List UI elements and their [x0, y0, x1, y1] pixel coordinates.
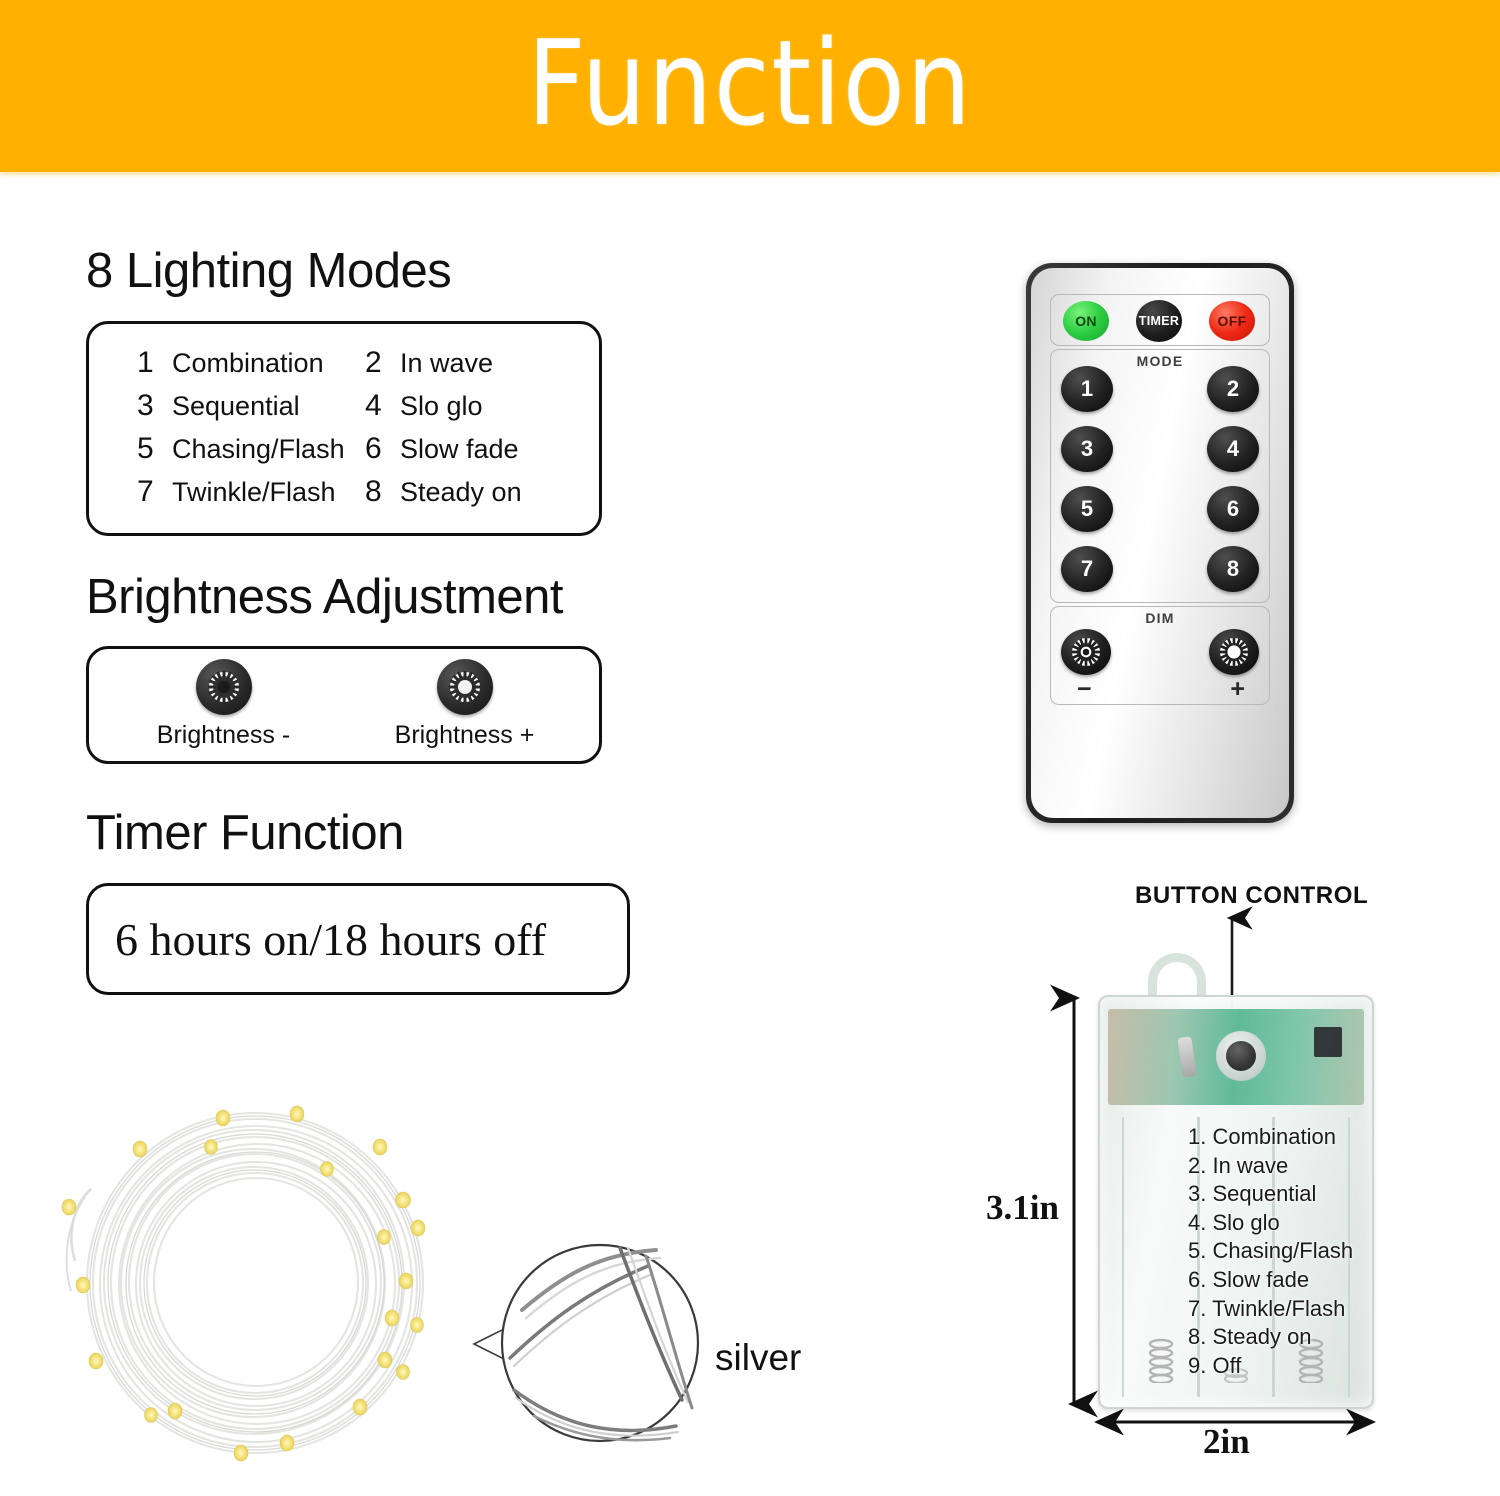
remote-on-button[interactable]: ON: [1063, 301, 1109, 341]
remote-mode-button-4[interactable]: 4: [1207, 426, 1259, 472]
battery-mode-item: 6. Slow fade: [1188, 1266, 1353, 1295]
remote-mode-panel: MODE 1 2 3 4 5 6 7 8: [1050, 349, 1270, 603]
lighting-modes-heading: 8 Lighting Modes: [86, 246, 646, 297]
remote-mode-button-3[interactable]: 3: [1061, 426, 1113, 472]
remote-control: ON TIMER OFF MODE 1 2 3 4 5 6 7 8 DIM: [1026, 263, 1294, 823]
sun-dim-icon: [196, 659, 252, 715]
mode-label: Steady on: [400, 477, 522, 508]
timer-box: 6 hours on/18 hours off: [86, 883, 630, 995]
battery-mode-item: 4. Slo glo: [1188, 1209, 1353, 1238]
battery-spring-icon: [1146, 1337, 1176, 1383]
sun-bright-icon: [437, 659, 493, 715]
remote-power-panel: ON TIMER OFF: [1050, 294, 1270, 346]
brightness-minus-label: Brightness -: [157, 721, 290, 750]
mode-label: Combination: [172, 348, 324, 379]
remote-dim-panel: DIM: [1050, 606, 1270, 705]
timer-value: 6 hours on/18 hours off: [115, 913, 546, 966]
lighting-mode-item: 2 In wave: [365, 346, 599, 380]
mode-number: 1: [137, 346, 165, 380]
remote-mode-button-1[interactable]: 1: [1061, 366, 1113, 412]
remote-dim-minus-button[interactable]: [1061, 629, 1111, 675]
mode-number: 5: [137, 432, 165, 466]
mode-number: 3: [137, 389, 165, 423]
inductor-icon: [1177, 1036, 1196, 1078]
remote-timer-button[interactable]: TIMER: [1136, 300, 1182, 342]
remote-mode-button-6[interactable]: 6: [1207, 486, 1259, 532]
remote-dim-plus-button[interactable]: [1209, 629, 1259, 675]
mode-label: Twinkle/Flash: [172, 477, 336, 508]
lighting-mode-item: 7 Twinkle/Flash: [137, 475, 365, 509]
brightness-box: Brightness -: [86, 646, 602, 764]
remote-mode-button-8[interactable]: 8: [1207, 546, 1259, 592]
battery-box: 1. Combination 2. In wave 3. Sequential …: [1098, 995, 1374, 1409]
sun-dim-icon: [1061, 629, 1111, 675]
battery-mode-item: 5. Chasing/Flash: [1188, 1237, 1353, 1266]
wire-coil-illustration: [55, 1085, 475, 1485]
lighting-mode-item: 6 Slow fade: [365, 432, 599, 466]
chip-icon: [1314, 1027, 1342, 1057]
lighting-mode-item: 4 Slo glo: [365, 389, 599, 423]
mode-label: Sequential: [172, 391, 300, 422]
mode-number: 2: [365, 346, 393, 380]
led-wire-coil-photo: [55, 1085, 475, 1485]
battery-mode-item: 1. Combination: [1188, 1123, 1353, 1152]
mode-label: Chasing/Flash: [172, 434, 345, 465]
battery-mode-item: 9. Off: [1188, 1352, 1353, 1381]
lighting-mode-item: 3 Sequential: [137, 389, 365, 423]
mode-number: 6: [365, 432, 393, 466]
remote-off-button[interactable]: OFF: [1209, 301, 1255, 341]
page-header-banner: Function: [0, 0, 1500, 172]
lighting-mode-item: 5 Chasing/Flash: [137, 432, 365, 466]
mode-number: 4: [365, 389, 393, 423]
remote-dim-plus-sign: +: [1230, 677, 1245, 702]
remote-mode-button-7[interactable]: 7: [1061, 546, 1113, 592]
brightness-minus-cell: Brightness -: [114, 659, 334, 750]
left-content-column: 8 Lighting Modes 1 Combination 2 In wave…: [86, 246, 646, 995]
battery-box-width-label: 2in: [1203, 1422, 1250, 1462]
silver-wire-label: silver: [715, 1337, 801, 1379]
lighting-mode-item: 1 Combination: [137, 346, 365, 380]
lighting-modes-grid: 1 Combination 2 In wave 3 Sequential 4 S…: [89, 346, 599, 509]
battery-mode-item: 2. In wave: [1188, 1152, 1353, 1181]
mode-label: Slo glo: [400, 391, 483, 422]
lighting-modes-box: 1 Combination 2 In wave 3 Sequential 4 S…: [86, 321, 602, 536]
brightness-plus-label: Brightness +: [395, 721, 535, 750]
battery-box-push-button[interactable]: [1216, 1031, 1266, 1081]
remote-face: ON TIMER OFF MODE 1 2 3 4 5 6 7 8 DIM: [1031, 268, 1289, 818]
timer-heading: Timer Function: [86, 808, 646, 859]
lighting-mode-item: 8 Steady on: [365, 475, 599, 509]
mode-number: 7: [137, 475, 165, 509]
sun-bright-icon: [1209, 629, 1259, 675]
remote-mode-button-2[interactable]: 2: [1207, 366, 1259, 412]
page-title: Function: [527, 24, 972, 142]
battery-mode-item: 3. Sequential: [1188, 1180, 1353, 1209]
battery-box-height-label: 3.1in: [986, 1188, 1059, 1228]
battery-box-mode-list: 1. Combination 2. In wave 3. Sequential …: [1188, 1123, 1353, 1380]
remote-mode-button-5[interactable]: 5: [1061, 486, 1113, 532]
battery-mode-item: 8. Steady on: [1188, 1323, 1353, 1352]
battery-mode-item: 7. Twinkle/Flash: [1188, 1295, 1353, 1324]
remote-dim-minus-sign: −: [1077, 677, 1092, 702]
mode-label: Slow fade: [400, 434, 519, 465]
mode-label: In wave: [400, 348, 493, 379]
brightness-heading: Brightness Adjustment: [86, 572, 646, 623]
mode-number: 8: [365, 475, 393, 509]
battery-box-area: BUTTON CONTROL 3.1in 2in: [960, 870, 1460, 1470]
circuit-board: [1108, 1009, 1364, 1105]
brightness-plus-cell: Brightness +: [355, 659, 575, 750]
remote-dim-section-label: DIM: [1051, 610, 1269, 626]
